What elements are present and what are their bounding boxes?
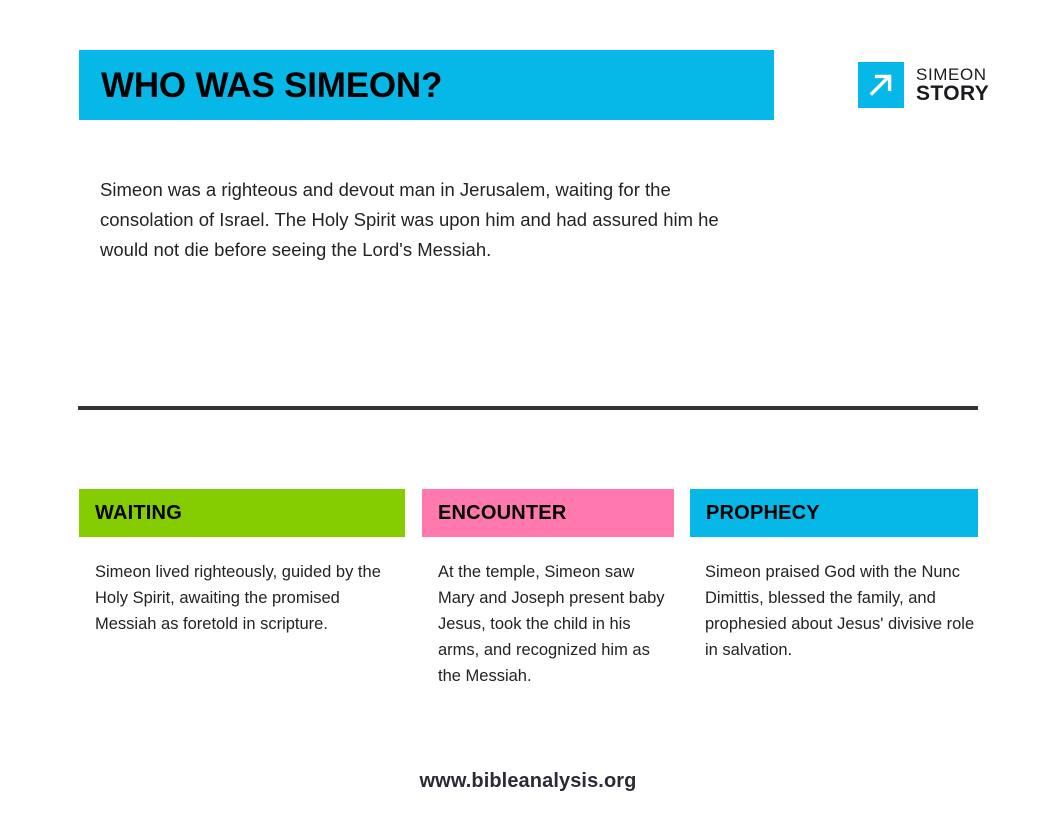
intro-paragraph: Simeon was a righteous and devout man in… [100,175,760,265]
footer: www.bibleanalysis.org [0,770,1056,793]
column-header-encounter: ENCOUNTER [422,489,674,537]
logo-line-top: SIMEON [916,66,989,83]
header: WHO WAS SIMEON? SIMEON STORY [0,50,1056,120]
arrow-up-right-icon [858,62,904,108]
logo-line-bottom: STORY [916,83,989,104]
page-title: WHO WAS SIMEON? [79,68,442,103]
column-body: Simeon praised God with the Nunc Dimitti… [690,537,978,663]
footer-url: www.bibleanalysis.org [420,770,637,792]
column-header-waiting: WAITING [79,489,405,537]
column-header-prophecy: PROPHECY [690,489,978,537]
column-label: ENCOUNTER [422,502,566,525]
column-body: At the temple, Simeon saw Mary and Josep… [422,537,674,689]
section-divider [78,406,978,410]
column-label: WAITING [79,502,182,525]
column-prophecy: PROPHECY Simeon praised God with the Nun… [690,489,978,663]
column-encounter: ENCOUNTER At the temple, Simeon saw Mary… [422,489,674,689]
brand-logo: SIMEON STORY [858,51,989,119]
logo-wordmark: SIMEON STORY [916,66,989,105]
column-label: PROPHECY [690,502,820,525]
title-bar: WHO WAS SIMEON? [79,50,774,120]
column-waiting: WAITING Simeon lived righteously, guided… [79,489,405,637]
column-body: Simeon lived righteously, guided by the … [79,537,405,637]
